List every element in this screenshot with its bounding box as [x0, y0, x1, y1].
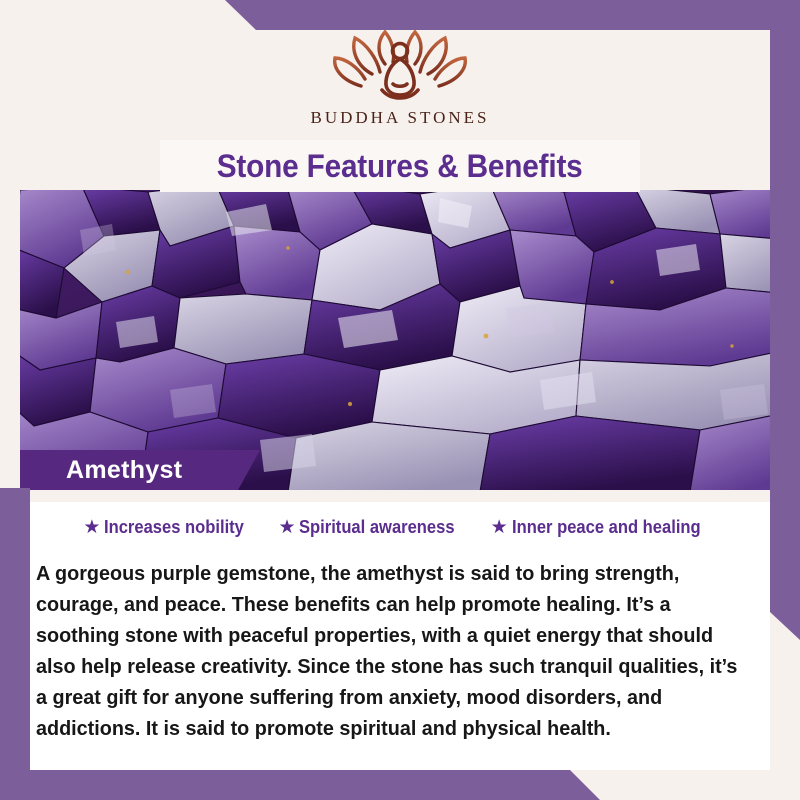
benefit-item-1: ★ Increases nobility	[83, 517, 256, 538]
star-icon: ★	[491, 518, 508, 537]
page-title: Stone Features & Benefits	[217, 148, 583, 185]
benefit-item-3: ★ Inner peace and healing	[491, 517, 717, 538]
benefit-item-2: ★ Spiritual awareness	[278, 517, 468, 538]
benefit-label-1: Increases nobility	[104, 517, 244, 538]
benefit-label-2: Spiritual awareness	[299, 517, 455, 538]
lotus-meditation-figure-icon	[325, 24, 475, 102]
stone-name-banner: Amethyst	[20, 450, 260, 490]
brand-name: BUDDHA STONES	[311, 108, 490, 128]
frame-right-bar	[770, 0, 800, 640]
stone-name-label: Amethyst	[66, 456, 182, 485]
frame-left-bar	[0, 488, 30, 800]
stone-description: A gorgeous purple gemstone, the amethyst…	[36, 558, 739, 744]
star-icon: ★	[278, 518, 295, 537]
amethyst-crystal-image	[20, 190, 780, 490]
title-banner: Stone Features & Benefits	[160, 140, 640, 192]
divider-strip	[20, 490, 780, 502]
product-info-card: BUDDHA STONES Stone Features & Benefits	[0, 0, 800, 800]
frame-bottom-bar	[0, 770, 800, 800]
star-icon: ★	[83, 518, 100, 537]
benefit-label-3: Inner peace and healing	[512, 517, 701, 538]
benefits-row: ★ Increases nobility ★ Spiritual awarene…	[30, 517, 770, 538]
